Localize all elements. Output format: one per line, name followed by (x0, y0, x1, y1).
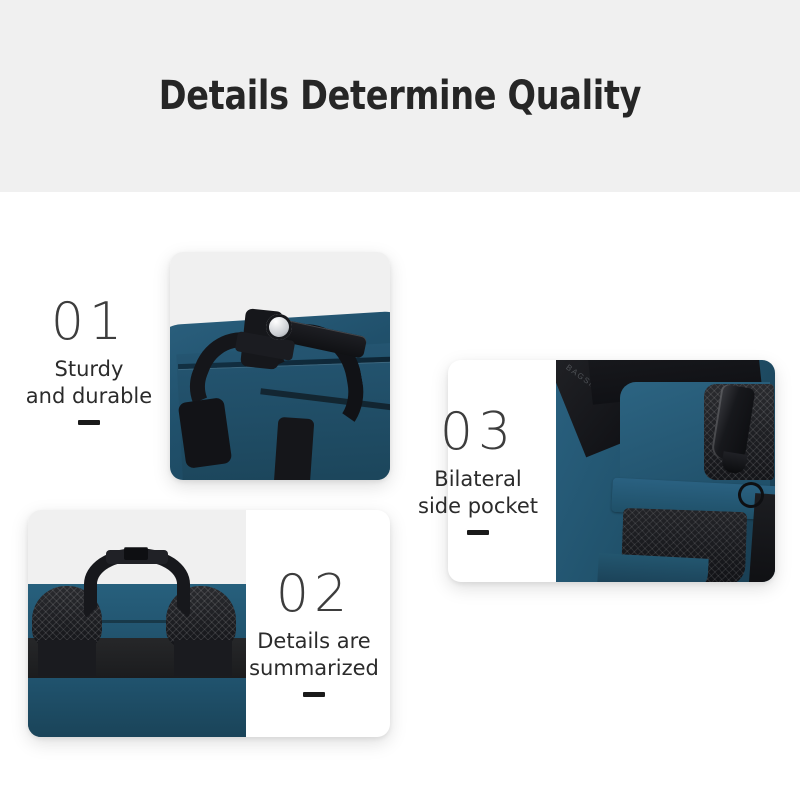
feature-caption-03: 03 Bilateral side pocket (400, 406, 556, 535)
feature-line2-01: and durable (14, 383, 164, 410)
strap-anchor-right (274, 417, 315, 480)
feature-line1-03: Bilateral (400, 466, 556, 493)
strap-base-right (174, 640, 232, 676)
feature-number-01: 01 (14, 296, 164, 348)
feature-line2-03: side pocket (400, 493, 556, 520)
feature-caption-02: 02 Details are summarized (238, 568, 390, 697)
caption-dash-01 (78, 420, 100, 425)
feature-caption-01: 01 Sturdy and durable (14, 296, 164, 425)
feature-number-02: 02 (238, 568, 390, 620)
strap-anchor-left (178, 397, 233, 469)
bag-bottom-panel (597, 553, 708, 582)
back-panel-bottom (28, 678, 246, 737)
feature-line1-02: Details are (238, 628, 390, 655)
handle-buckle-icon (124, 547, 148, 560)
feature-image-03: BAGSMART (556, 360, 775, 582)
page-title: Details Determine Quality (28, 0, 772, 192)
caption-dash-03 (467, 530, 489, 535)
feature-card-01[interactable] (170, 252, 390, 480)
feature-line1-01: Sturdy (14, 356, 164, 383)
feature-image-01 (170, 252, 390, 480)
strap-base-left (38, 640, 96, 676)
caption-dash-02 (303, 692, 325, 697)
feature-image-02 (28, 510, 246, 737)
feature-line2-02: summarized (238, 655, 390, 682)
feature-number-03: 03 (400, 406, 556, 458)
